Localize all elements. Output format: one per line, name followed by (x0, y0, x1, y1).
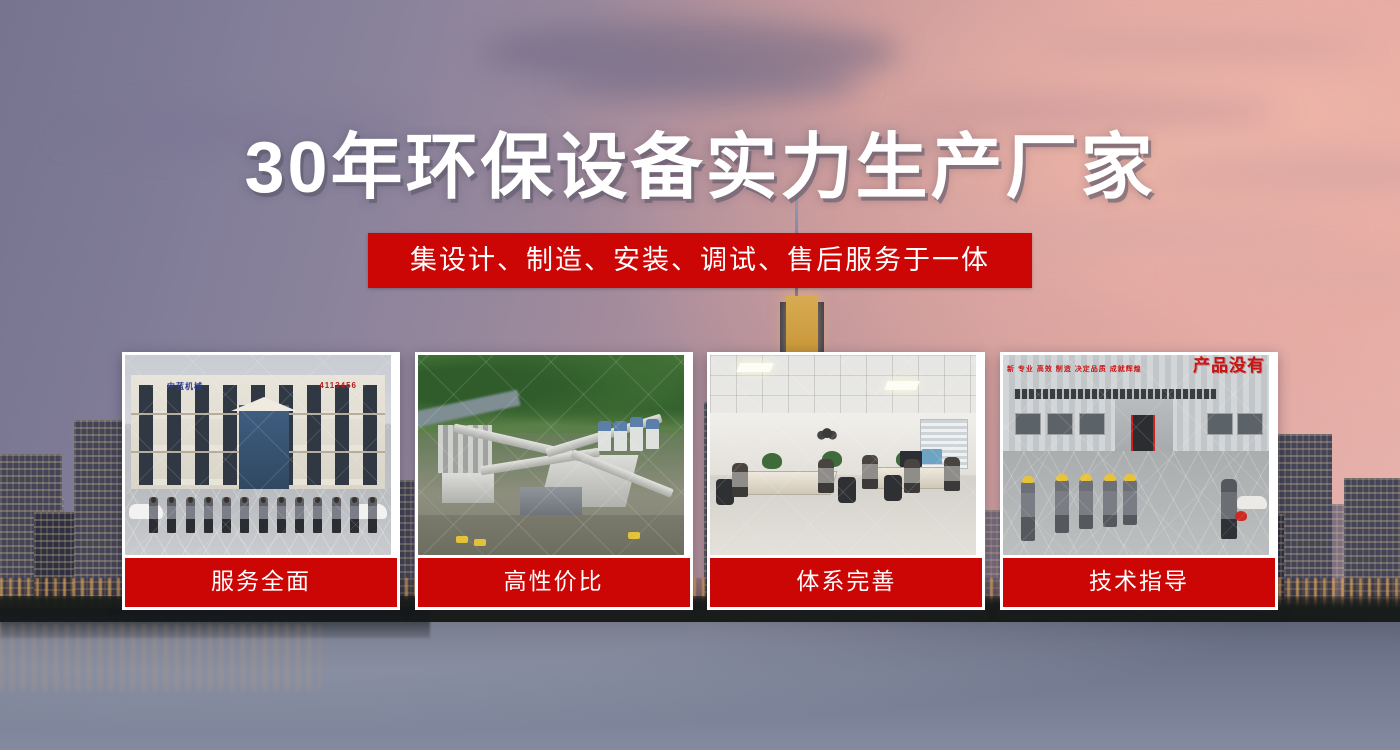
potted-plant (762, 453, 782, 469)
staff-person (149, 497, 158, 533)
factory-vent-strip (1013, 389, 1217, 399)
worker-with-helmet (1103, 479, 1117, 527)
factory-side-slogan: 新 专业 高效 制造 决定品质 成就辉煌 (1007, 365, 1142, 376)
company-sign-text: 中蓝机械 (167, 381, 203, 392)
office-building: 中蓝机械 4113456 (131, 375, 385, 493)
aerial-production-plant-photo (418, 355, 684, 555)
staff-person (368, 497, 377, 533)
office-chair (884, 475, 902, 501)
staff-person (167, 497, 176, 533)
plant-shed (442, 473, 494, 503)
feature-card[interactable]: 体系完善 (707, 352, 985, 610)
computer-monitor (922, 449, 942, 464)
factory-window (1015, 413, 1041, 435)
office-worker (904, 459, 920, 493)
company-office-building-photo: 中蓝机械 4113456 (125, 355, 391, 555)
storage-silo (646, 419, 659, 449)
parked-car (1237, 496, 1267, 509)
staff-person (332, 497, 341, 533)
excavator (628, 532, 640, 539)
staff-lineup (149, 497, 377, 533)
worker-with-helmet (1021, 481, 1035, 541)
storage-silo (630, 417, 643, 451)
feature-card-list: 中蓝机械 4113456 (122, 352, 1278, 610)
wall-decal (810, 417, 844, 443)
plant-shed-dark (520, 487, 582, 515)
office-interior-photo (710, 355, 976, 555)
office-worker (732, 463, 748, 497)
supervisor (1221, 479, 1237, 539)
staff-person (313, 497, 322, 533)
factory-window (1237, 413, 1263, 435)
feature-card-label: 体系完善 (710, 558, 982, 607)
staff-person (240, 497, 249, 533)
ceiling-light (884, 381, 920, 390)
red-helmet-icon (1235, 511, 1247, 521)
cloud (1040, 30, 1370, 64)
industrial-plant (428, 411, 678, 523)
feature-card-label: 高性价比 (418, 558, 690, 607)
staff-person (350, 497, 359, 533)
feature-card-label: 技术指导 (1003, 558, 1275, 607)
feature-card[interactable]: 高性价比 (415, 352, 693, 610)
staff-person (277, 497, 286, 533)
factory-banner-slogan: 产品没有 (1193, 357, 1265, 374)
worker-with-helmet (1079, 479, 1093, 529)
worker-with-helmet (1123, 479, 1137, 525)
cloud (560, 58, 860, 106)
subtitle-text: 集设计、制造、安装、调试、售后服务于一体 (368, 233, 1032, 288)
subtitle-bar: 集设计、制造、安装、调试、售后服务于一体 (0, 233, 1400, 288)
feature-card[interactable]: 中蓝机械 4113456 (122, 352, 400, 610)
office-worker (818, 459, 834, 493)
page-title: 30年环保设备实力生产厂家 (0, 132, 1400, 204)
office-chair (838, 477, 856, 503)
excavator (456, 536, 468, 543)
cloud (900, 92, 1280, 132)
factory-window (1047, 413, 1073, 435)
hero-banner: 30年环保设备实力生产厂家 集设计、制造、安装、调试、售后服务于一体 中蓝机械 … (0, 0, 1400, 750)
worker-with-helmet (1055, 479, 1069, 533)
feature-card[interactable]: 新 专业 高效 制造 决定品质 成就辉煌 产品没有 (1000, 352, 1278, 610)
tower-crown-lights (786, 296, 818, 360)
feature-card-label: 服务全面 (125, 558, 397, 607)
storage-silo (614, 421, 627, 451)
office-worker (944, 457, 960, 491)
factory-window (1207, 413, 1233, 435)
factory-door (1131, 415, 1155, 451)
staff-person (222, 497, 231, 533)
staff-person (259, 497, 268, 533)
plant-yard (418, 515, 684, 555)
company-phone-text: 4113456 (319, 381, 357, 390)
office-worker (862, 455, 878, 489)
excavator (474, 539, 486, 546)
ceiling-light (736, 363, 774, 372)
workshop-workers-photo: 新 专业 高效 制造 决定品质 成就辉煌 产品没有 (1003, 355, 1269, 555)
staff-person (186, 497, 195, 533)
factory-window (1079, 413, 1105, 435)
storage-silo (598, 421, 611, 451)
staff-person (295, 497, 304, 533)
staff-person (204, 497, 213, 533)
water-reflection (0, 624, 320, 690)
